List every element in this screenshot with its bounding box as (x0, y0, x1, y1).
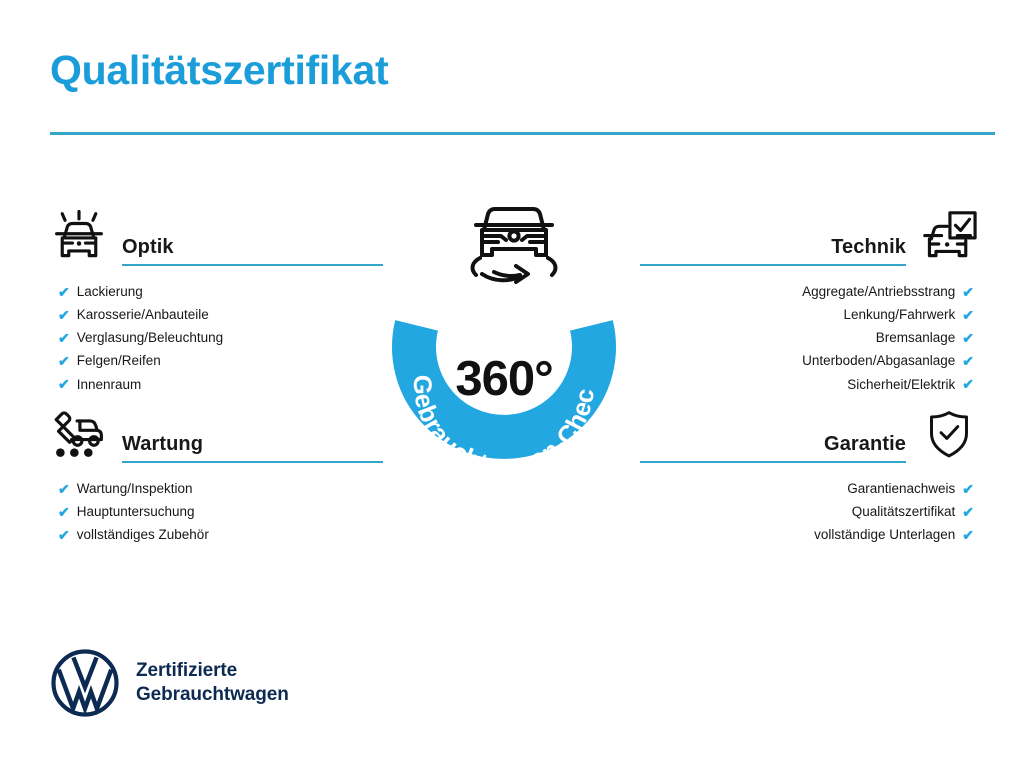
car-rotation-icon (454, 196, 574, 292)
check-icon: ✔ (58, 331, 70, 345)
section-wartung-list: ✔ Wartung/Inspektion ✔ Hauptuntersuchung… (48, 477, 383, 547)
vw-logo-text: Zertifizierte Gebrauchtwagen (136, 659, 289, 708)
list-item: ✔ Lackierung (58, 280, 383, 303)
check-icon: ✔ (58, 308, 70, 322)
check-icon: ✔ (962, 354, 974, 368)
section-optik-underline (122, 264, 383, 267)
list-item: ✔ vollständige Unterlagen (640, 523, 974, 546)
list-item-label: Garantienachweis (847, 482, 955, 496)
list-item-label: Aggregate/Antriebsstrang (802, 285, 955, 299)
list-item: ✔ Karosserie/Anbauteile (58, 303, 383, 326)
section-optik-list: ✔ Lackierung ✔ Karosserie/Anbauteile ✔ V… (48, 280, 383, 396)
check-icon: ✔ (962, 285, 974, 299)
list-item: ✔ Verglasung/Beleuchtung (58, 326, 383, 349)
badge-360-check: Gebrauchtwagen-Check 360° (378, 196, 646, 488)
section-technik-list: ✔ Aggregate/Antriebsstrang ✔ Lenkung/Fah… (640, 280, 980, 396)
list-item-label: Hauptuntersuchung (77, 505, 195, 519)
check-icon: ✔ (58, 285, 70, 299)
page-header: Qualitätszertifikat (50, 48, 995, 93)
list-item: ✔ Aggregate/Antriebsstrang (640, 280, 974, 303)
list-item: ✔ Sicherheit/Elektrik (640, 373, 974, 396)
header-divider (50, 132, 995, 135)
list-item-label: Lackierung (77, 285, 143, 299)
section-wartung-header: Wartung (48, 405, 383, 463)
section-wartung-title: Wartung (122, 433, 383, 461)
section-technik: Technik ✔ Aggregate/Antriebsstrang ✔ Len… (640, 208, 980, 396)
check-icon: ✔ (962, 308, 974, 322)
page-title: Qualitätszertifikat (50, 48, 995, 93)
list-item-label: Wartung/Inspektion (77, 482, 193, 496)
section-optik-title: Optik (122, 236, 383, 264)
car-service-pen-icon (48, 405, 110, 463)
check-icon: ✔ (58, 377, 70, 391)
list-item: ✔ vollständiges Zubehör (58, 523, 383, 546)
section-wartung-underline (122, 461, 383, 464)
car-headlights-icon (48, 208, 110, 266)
list-item: ✔ Wartung/Inspektion (58, 477, 383, 500)
list-item: ✔ Garantienachweis (640, 477, 974, 500)
section-wartung-titlewrap: Wartung (122, 433, 383, 464)
list-item-label: Sicherheit/Elektrik (847, 378, 955, 392)
section-wartung: Wartung ✔ Wartung/Inspektion ✔ Hauptunte… (48, 405, 383, 547)
vw-logo-line1: Zertifizierte (136, 659, 289, 683)
section-technik-underline (640, 264, 906, 267)
volkswagen-certified-logo: Zertifizierte Gebrauchtwagen (50, 648, 289, 718)
list-item-label: vollständiges Zubehör (77, 528, 209, 542)
shield-check-icon (918, 405, 980, 463)
section-technik-title: Technik (640, 236, 906, 264)
list-item: ✔ Felgen/Reifen (58, 350, 383, 373)
check-icon: ✔ (58, 482, 70, 496)
list-item-label: Qualitätszertifikat (852, 505, 956, 519)
section-technik-header: Technik (640, 208, 980, 266)
list-item-label: Unterboden/Abgasanlage (802, 354, 955, 368)
check-icon: ✔ (58, 505, 70, 519)
check-icon: ✔ (962, 528, 974, 542)
section-optik-titlewrap: Optik (122, 236, 383, 267)
badge-center-value: 360° (455, 351, 552, 407)
section-garantie-header: Garantie (640, 405, 980, 463)
volkswagen-roundel-icon (50, 648, 120, 718)
list-item: ✔ Bremsanlage (640, 326, 974, 349)
list-item: ✔ Hauptuntersuchung (58, 500, 383, 523)
list-item-label: Verglasung/Beleuchtung (77, 331, 223, 345)
list-item-label: Bremsanlage (876, 331, 956, 345)
check-icon: ✔ (962, 331, 974, 345)
check-icon: ✔ (58, 528, 70, 542)
list-item: ✔ Innenraum (58, 373, 383, 396)
list-item: ✔ Lenkung/Fahrwerk (640, 303, 974, 326)
car-checkbox-icon (918, 208, 980, 266)
section-garantie-underline (640, 461, 906, 464)
list-item-label: Felgen/Reifen (77, 354, 161, 368)
section-garantie-list: ✔ Garantienachweis ✔ Qualitätszertifikat… (640, 477, 980, 547)
check-icon: ✔ (962, 377, 974, 391)
list-item-label: Lenkung/Fahrwerk (843, 308, 955, 322)
check-icon: ✔ (58, 354, 70, 368)
section-garantie: Garantie ✔ Garantienachweis ✔ Qualitätsz… (640, 405, 980, 547)
badge-center-value-wrap: 360° (378, 258, 630, 510)
section-optik: Optik ✔ Lackierung ✔ Karosserie/Anbautei… (48, 208, 383, 396)
section-optik-header: Optik (48, 208, 383, 266)
list-item: ✔ Qualitätszertifikat (640, 500, 974, 523)
section-technik-titlewrap: Technik (640, 236, 906, 267)
section-garantie-titlewrap: Garantie (640, 433, 906, 464)
vw-logo-line2: Gebrauchtwagen (136, 683, 289, 707)
section-garantie-title: Garantie (640, 433, 906, 461)
check-icon: ✔ (962, 505, 974, 519)
list-item-label: Karosserie/Anbauteile (77, 308, 209, 322)
list-item: ✔ Unterboden/Abgasanlage (640, 350, 974, 373)
list-item-label: Innenraum (77, 378, 142, 392)
check-icon: ✔ (962, 482, 974, 496)
list-item-label: vollständige Unterlagen (814, 528, 955, 542)
